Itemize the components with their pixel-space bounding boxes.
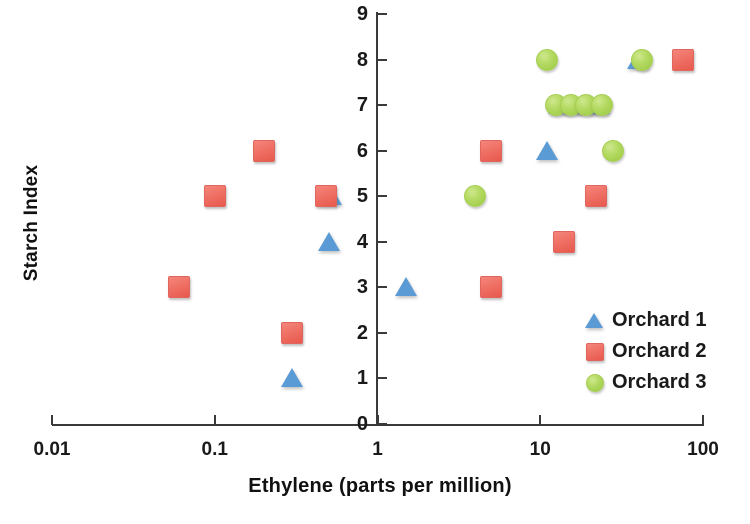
y-tick-label: 1 bbox=[328, 368, 368, 388]
y-tick-mark bbox=[378, 286, 387, 288]
data-point-orchard-1 bbox=[281, 368, 303, 387]
x-axis-title: Ethylene (parts per million) bbox=[120, 475, 640, 498]
data-point-orchard-3 bbox=[536, 49, 558, 71]
legend-label: Orchard 1 bbox=[612, 308, 706, 332]
data-point-orchard-2 bbox=[553, 231, 575, 253]
y-tick-mark bbox=[378, 13, 387, 15]
data-point-orchard-2 bbox=[204, 185, 226, 207]
circle-marker-icon bbox=[586, 374, 604, 392]
data-point-orchard-3 bbox=[602, 140, 624, 162]
x-tick-mark bbox=[539, 415, 541, 424]
data-point-orchard-3 bbox=[631, 49, 653, 71]
y-axis-title: Starch Index bbox=[21, 113, 43, 333]
y-tick-label: 7 bbox=[328, 95, 368, 115]
y-tick-mark bbox=[378, 104, 387, 106]
y-tick-label: 3 bbox=[328, 277, 368, 297]
data-point-orchard-2 bbox=[480, 140, 502, 162]
data-point-orchard-2 bbox=[315, 185, 337, 207]
y-tick-mark bbox=[378, 423, 387, 425]
x-tick-label: 10 bbox=[495, 440, 585, 459]
data-point-orchard-1 bbox=[536, 141, 558, 160]
data-point-orchard-2 bbox=[585, 185, 607, 207]
data-point-orchard-2 bbox=[480, 276, 502, 298]
x-tick-mark bbox=[702, 415, 704, 425]
square-marker-icon bbox=[586, 343, 604, 361]
y-tick-label: 8 bbox=[328, 50, 368, 70]
data-point-orchard-3 bbox=[464, 185, 486, 207]
x-tick-label: 0.1 bbox=[170, 440, 260, 459]
data-point-orchard-1 bbox=[395, 277, 417, 296]
data-point-orchard-2 bbox=[672, 49, 694, 71]
x-tick-mark bbox=[377, 415, 379, 424]
y-tick-label: 2 bbox=[328, 323, 368, 343]
y-tick-label: 6 bbox=[328, 141, 368, 161]
legend-label: Orchard 2 bbox=[612, 339, 706, 363]
data-point-orchard-1 bbox=[318, 232, 340, 251]
y-tick-mark bbox=[378, 241, 387, 243]
legend-label: Orchard 3 bbox=[612, 370, 706, 394]
x-tick-label: 1 bbox=[333, 440, 423, 459]
x-tick-label: 0.01 bbox=[7, 440, 97, 459]
triangle-marker-icon bbox=[586, 312, 603, 328]
x-tick-mark bbox=[214, 415, 216, 424]
scatter-chart: 0123456789 0.010.1110100 Starch Index Et… bbox=[0, 0, 750, 524]
y-tick-mark bbox=[378, 150, 387, 152]
x-tick-mark bbox=[51, 415, 53, 425]
data-point-orchard-2 bbox=[281, 322, 303, 344]
data-point-orchard-2 bbox=[253, 140, 275, 162]
y-tick-label: 0 bbox=[328, 414, 368, 434]
x-tick-label: 100 bbox=[658, 440, 748, 459]
y-tick-label: 9 bbox=[328, 4, 368, 24]
y-tick-mark bbox=[378, 332, 387, 334]
data-point-orchard-2 bbox=[168, 276, 190, 298]
y-tick-mark bbox=[378, 59, 387, 61]
y-axis-line bbox=[376, 12, 378, 426]
y-tick-mark bbox=[378, 195, 387, 197]
y-tick-mark bbox=[378, 377, 387, 379]
